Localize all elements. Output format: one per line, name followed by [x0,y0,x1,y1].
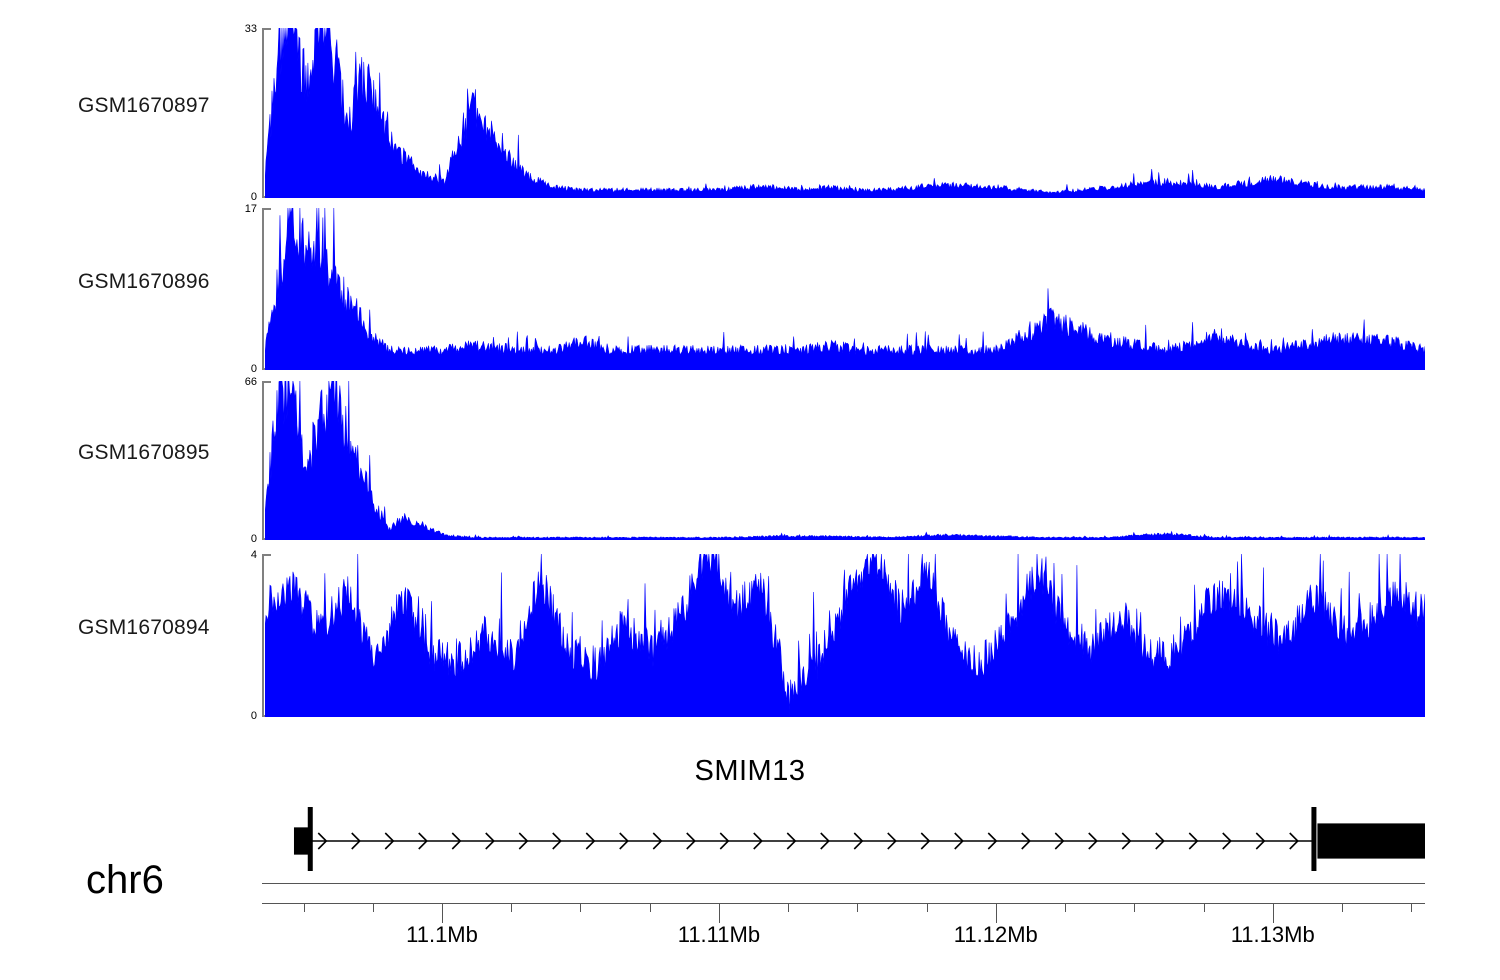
axis-tick-label: 11.12Mb [954,922,1038,948]
axis-tick-minor [1411,903,1412,912]
track-plot-area[interactable]: 4 0 [262,554,1425,717]
track-label: GSM1670894 [78,616,210,640]
y-axis-max-label: 66 [245,377,257,388]
axis-tick-minor [373,903,374,912]
track-label: GSM1670897 [78,94,210,118]
y-axis-max-label: 4 [251,550,257,561]
axis-tick-major [1273,903,1274,923]
y-axis-min-label: 0 [251,711,257,722]
track-plot-area[interactable]: 33 0 [262,28,1425,198]
axis-rule-top [262,883,1425,884]
axis-tick-minor [1204,903,1205,912]
axis-tick-minor [650,903,651,912]
y-axis-min-label: 0 [251,364,257,375]
y-axis-min-label: 0 [251,192,257,203]
axis-tick-label: 11.1Mb [406,922,478,948]
y-axis-min-label: 0 [251,534,257,545]
axis-tick-label: 11.11Mb [678,922,760,948]
coverage-area [265,28,1425,198]
coverage-area [265,208,1425,370]
coverage-track-gsm1670897[interactable]: GSM1670897 33 0 [0,28,1500,198]
axis-tick-minor [788,903,789,912]
gene-name-label: SMIM13 [0,755,1500,788]
y-axis-line [262,554,264,717]
y-axis-line [262,28,264,198]
coverage-track-gsm1670895[interactable]: GSM1670895 66 0 [0,381,1500,540]
track-plot-area[interactable]: 17 0 [262,208,1425,370]
genomic-axis[interactable]: 11.1Mb11.11Mb11.12Mb11.13Mb [262,878,1425,958]
gene-annotation-track[interactable]: SMIM13 [0,755,1500,880]
axis-tick-minor [580,903,581,912]
axis-tick-minor [1134,903,1135,912]
axis-tick-minor [1342,903,1343,912]
coverage-track-gsm1670896[interactable]: GSM1670896 17 0 [0,208,1500,370]
axis-tick-minor [927,903,928,912]
coverage-area [265,381,1425,540]
axis-tick-major [719,903,720,923]
coverage-track-gsm1670894[interactable]: GSM1670894 4 0 [0,554,1500,717]
y-axis-max-label: 33 [245,24,257,35]
axis-tick-label: 11.13Mb [1231,922,1315,948]
track-label: GSM1670896 [78,270,210,294]
track-plot-area[interactable]: 66 0 [262,381,1425,540]
axis-tick-minor [857,903,858,912]
axis-tick-minor [511,903,512,912]
track-label: GSM1670895 [78,441,210,465]
y-axis-line [262,208,264,370]
y-axis-max-label: 17 [245,204,257,215]
gene-model-glyph[interactable] [262,805,1425,875]
axis-tick-minor [1065,903,1066,912]
chromosome-label: chr6 [86,858,164,903]
axis-tick-major [996,903,997,923]
genome-browser: GSM1670897 33 0 GSM1670896 17 0 GSM16708… [0,0,1500,980]
coverage-area [265,554,1425,717]
y-axis-line [262,381,264,540]
axis-tick-minor [304,903,305,912]
axis-rule-main [262,903,1425,904]
axis-tick-major [442,903,443,923]
